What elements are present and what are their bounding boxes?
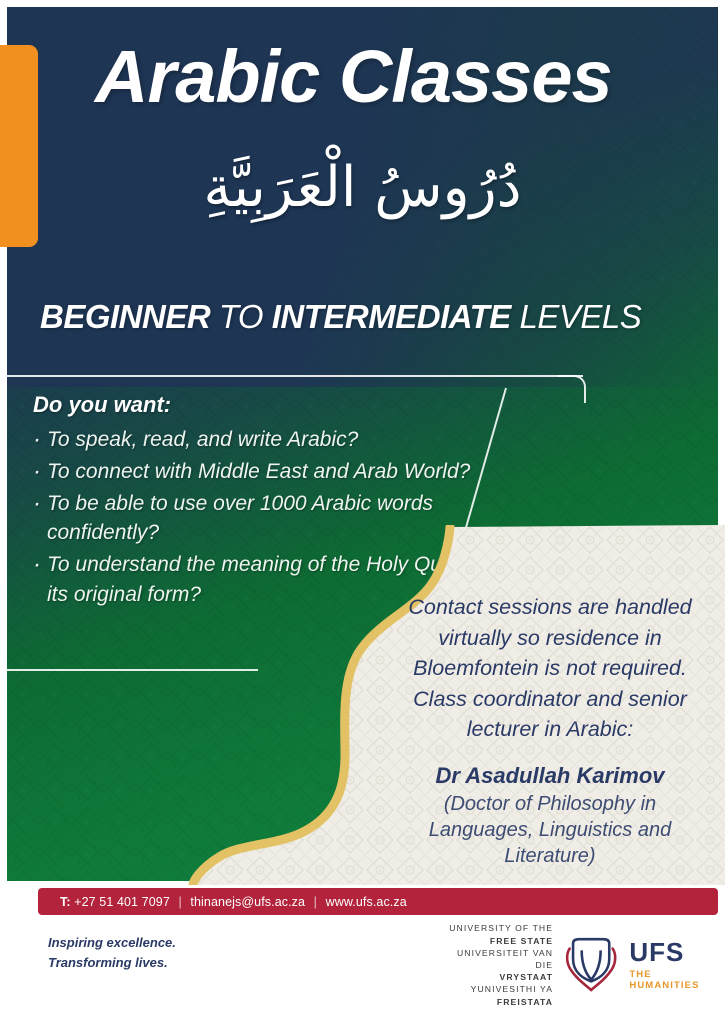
lecturer-name: Dr Asadullah Karimov xyxy=(390,763,710,789)
ufs-logo-wordmark: UNIVERSITY OF THE FREE STATE UNIVERSITEI… xyxy=(440,922,553,1007)
logo-line-1: UNIVERSITY OF THE xyxy=(440,922,553,934)
contact-bar-text: T: +27 51 401 7097 | thinanejs@ufs.ac.za… xyxy=(38,895,407,909)
logo-line-4: VRYSTAAT xyxy=(440,971,553,983)
logo-line-6: FREISTATA xyxy=(440,996,553,1008)
phone-label: T: xyxy=(60,895,71,909)
questions-lead: Do you want: xyxy=(33,392,503,418)
subtitle-intermediate: INTERMEDIATE xyxy=(272,298,511,335)
ufs-faculty: THE HUMANITIES xyxy=(629,969,720,991)
logo-line-3: UNIVERSITEIT VAN DIE xyxy=(440,947,553,971)
frame-line-top xyxy=(0,375,583,377)
brand-tagline: Inspiring excellence. Transforming lives… xyxy=(48,933,176,973)
tagline-line-1: Inspiring excellence. xyxy=(48,933,176,953)
separator-2: | xyxy=(309,895,322,909)
logo-line-5: YUNIVESITHI YA xyxy=(440,983,553,995)
ufs-logo: UNIVERSITY OF THE FREE STATE UNIVERSITEI… xyxy=(440,930,720,1000)
subtitle-beginner: BEGINNER xyxy=(40,298,210,335)
list-item: To connect with Middle East and Arab Wor… xyxy=(33,457,503,487)
tagline-line-2: Transforming lives. xyxy=(48,953,176,973)
phone-number: +27 51 401 7097 xyxy=(74,895,170,909)
contact-body-text: Contact sessions are handled virtually s… xyxy=(390,592,710,745)
separator-1: | xyxy=(173,895,186,909)
lecturer-qualification: (Doctor of Philosophy in Languages, Ling… xyxy=(390,791,710,869)
arabic-title: دُرُوسُ الْعَرَبِيَّةِ xyxy=(0,150,725,226)
subtitle-levels: BEGINNER TO INTERMEDIATE LEVELS xyxy=(40,300,700,333)
subtitle-to: TO xyxy=(210,298,272,335)
subtitle-levels-word: LEVELS xyxy=(511,298,641,335)
contact-bar: T: +27 51 401 7097 | thinanejs@ufs.ac.za… xyxy=(38,888,718,915)
email-link[interactable]: thinanejs@ufs.ac.za xyxy=(190,895,305,909)
logo-line-2: FREE STATE xyxy=(440,935,553,947)
poster-canvas: Arabic Classes دُرُوسُ الْعَرَبِيَّةِ BE… xyxy=(0,0,725,1024)
ufs-acronym-block: UFS THE HUMANITIES xyxy=(629,939,720,991)
ufs-shield-icon xyxy=(561,935,621,995)
page-title: Arabic Classes xyxy=(95,40,655,114)
contact-panel: Contact sessions are handled virtually s… xyxy=(390,592,710,869)
list-item: To speak, read, and write Arabic? xyxy=(33,425,503,455)
ufs-acronym: UFS xyxy=(629,939,720,965)
frame-line-corner xyxy=(558,375,586,403)
website-link[interactable]: www.ufs.ac.za xyxy=(326,895,407,909)
